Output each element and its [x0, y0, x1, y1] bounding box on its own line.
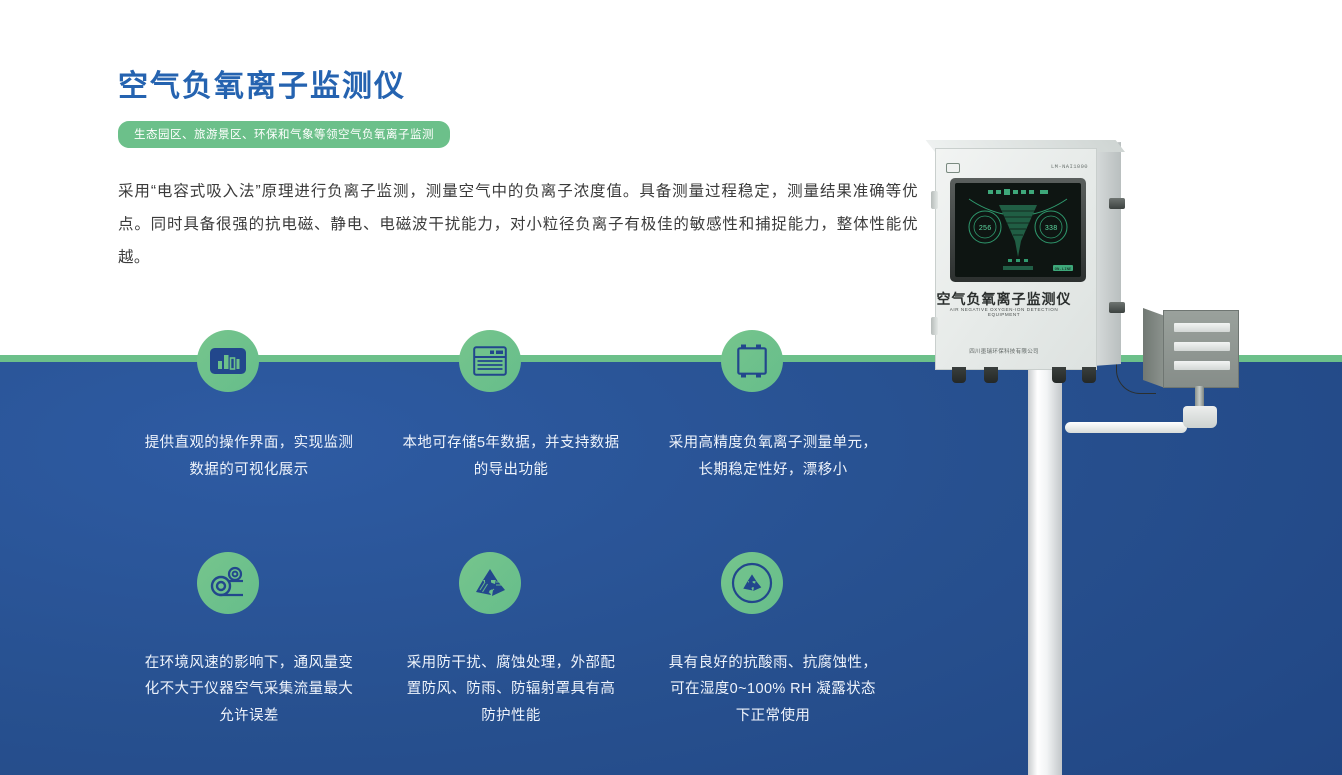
- header-block: 空气负氧离子监测仪 生态园区、旅游景区、环保和气象等领空气负氧离子监测 采用“电…: [118, 68, 938, 274]
- page-title: 空气负氧离子监测仪: [118, 68, 938, 106]
- sensor-louver: [1174, 361, 1230, 370]
- feature-item: 具有良好的抗酸雨、抗腐蚀性，可在湿度0~100% RH 凝露状态下正常使用: [642, 552, 904, 730]
- brand-logo-icon: [946, 163, 960, 173]
- sensor-cable: [1116, 344, 1156, 394]
- feature-icon-wrap: [721, 330, 783, 392]
- feature-label: 提供直观的操作界面，实现监测数据的可视化展示: [118, 430, 380, 484]
- feature-icon-wrap: [197, 552, 259, 614]
- display-bezel: 256 338 ON-LINE: [950, 178, 1086, 282]
- enclosure-hinge: [1109, 198, 1125, 209]
- enclosure-foot: [1052, 367, 1066, 383]
- enclosure-hinge: [1109, 302, 1125, 313]
- badge-row: 生态园区、旅游景区、环保和气象等领空气负氧离子监测: [118, 121, 938, 148]
- mast-pole: [1028, 360, 1062, 775]
- sensor-front-face: [1163, 310, 1239, 388]
- recycle-icon: [472, 566, 508, 600]
- enclosure-side-panel: [1093, 142, 1121, 366]
- feature-item: 采用高精度负氧离子测量单元，长期稳定性好，漂移小: [642, 330, 904, 484]
- feature-item: 提供直观的操作界面，实现监测数据的可视化展示: [118, 330, 380, 484]
- sensor-stem: [1195, 386, 1204, 408]
- sensor-mounting-arm: [1065, 422, 1187, 433]
- feature-label: 具有良好的抗酸雨、抗腐蚀性，可在湿度0~100% RH 凝露状态下正常使用: [642, 650, 904, 730]
- measurement-unit-icon: [737, 344, 767, 378]
- device-photo: LM-NAI1000: [920, 130, 1342, 775]
- airflow-sensor-icon: [209, 566, 247, 600]
- device-name-cn: 空气负氧离子监测仪: [936, 289, 1072, 309]
- product-page: 空气负氧离子监测仪 生态园区、旅游景区、环保和气象等领空气负氧离子监测 采用“电…: [0, 0, 1342, 775]
- device-screen[interactable]: 256 338 ON-LINE: [955, 183, 1081, 277]
- screen-graphics: 256 338 ON-LINE: [955, 183, 1081, 277]
- screen-status-label: ON-LINE: [1055, 268, 1072, 272]
- manufacturer-label: 四川墨瑞环保科技有限公司: [936, 347, 1072, 355]
- recycle-circle-icon: [731, 562, 773, 604]
- enclosure-foot: [984, 367, 998, 383]
- enclosure-latch: [931, 317, 938, 335]
- enclosure-foot: [1082, 367, 1096, 383]
- feature-icon-wrap: [459, 330, 521, 392]
- sensor-louver: [1174, 323, 1230, 332]
- feature-icon-wrap: [721, 552, 783, 614]
- feature-icon-wrap: [459, 552, 521, 614]
- sensor-louver: [1174, 342, 1230, 351]
- feature-label: 采用防干扰、腐蚀处理，外部配置防风、防雨、防辐射罩具有高防护性能: [380, 650, 642, 730]
- intro-paragraph: 采用“电容式吸入法”原理进行负离子监测，测量空气中的负离子浓度值。具备测量过程稳…: [118, 175, 918, 275]
- feature-label: 采用高精度负氧离子测量单元，长期稳定性好，漂移小: [642, 430, 904, 484]
- enclosure-front-panel: LM-NAI1000: [935, 148, 1097, 370]
- feature-icon-wrap: [197, 330, 259, 392]
- enclosure-foot: [952, 367, 966, 383]
- screen-left-gauge-value: 256: [979, 225, 992, 233]
- device-name-en: AIR NEGATIVE OXYGEN-ION DETECTION EQUIPM…: [936, 307, 1072, 317]
- feature-label: 在环境风速的影响下，通风量变化不大于仪器空气采集流量最大允许误差: [118, 650, 380, 730]
- feature-item: 采用防干扰、腐蚀处理，外部配置防风、防雨、防辐射罩具有高防护性能: [380, 552, 642, 730]
- database-storage-icon: [473, 346, 507, 376]
- feature-item: 本地可存储5年数据，并支持数据的导出功能: [380, 330, 642, 484]
- feature-grid: 提供直观的操作界面，实现监测数据的可视化展示 本地可存储5年数据，: [118, 330, 918, 730]
- application-badge: 生态园区、旅游景区、环保和气象等领空气负氧离子监测: [118, 121, 450, 148]
- feature-item: 在环境风速的影响下，通风量变化不大于仪器空气采集流量最大允许误差: [118, 552, 380, 730]
- screen-right-gauge-value: 338: [1045, 225, 1058, 233]
- sensor-mount-base: [1183, 406, 1217, 428]
- bar-chart-icon: [210, 348, 246, 374]
- instrument-enclosure: LM-NAI1000: [935, 140, 1121, 370]
- radiation-shield-sensor: [1143, 310, 1247, 398]
- device-model-label: LM-NAI1000: [1051, 163, 1088, 170]
- feature-label: 本地可存储5年数据，并支持数据的导出功能: [380, 430, 642, 484]
